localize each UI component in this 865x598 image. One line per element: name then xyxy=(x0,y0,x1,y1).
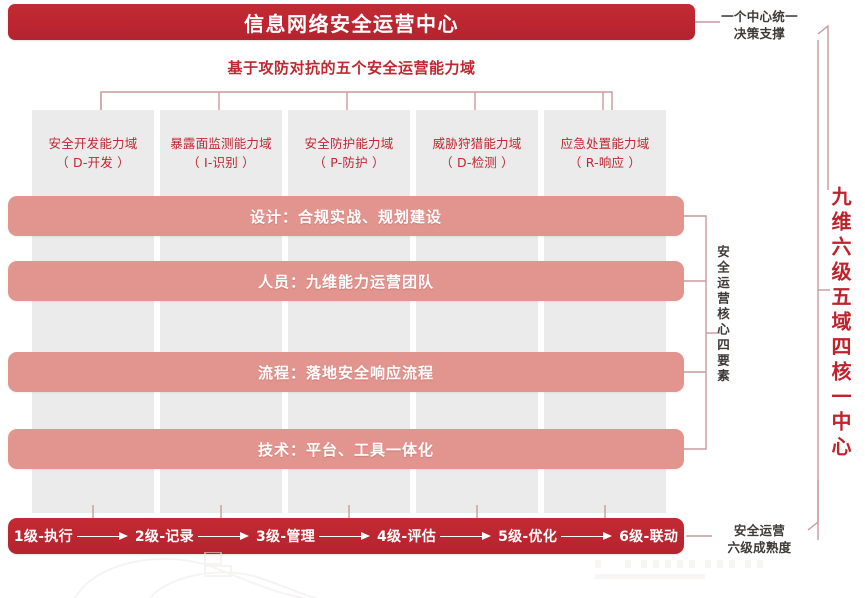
element-label-design: 设计：合规实战、规划建设 xyxy=(250,206,442,227)
domain-name-respond: 应急处置能力域 xyxy=(544,134,666,153)
maturity-level-3[interactable]: 3级-管理 xyxy=(256,526,315,546)
maturity-level-5[interactable]: 5级-优化 xyxy=(498,526,557,546)
domain-code-detect: （ D-检测 ） xyxy=(416,153,538,172)
background-watermark xyxy=(55,552,815,598)
diagram-canvas: 信息网络安全运营中心 一个中心统一 决策支撑 基于攻防对抗的五个安全运营能力域 … xyxy=(0,0,865,598)
maturity-arrow-3 xyxy=(319,530,373,542)
domain-name-identify: 暴露面监测能力域 xyxy=(160,134,282,153)
domains-bracket xyxy=(0,86,700,112)
domain-label-protect: 安全防护能力域 （ P-防护 ） xyxy=(288,134,410,172)
right-headline: 九维六级五域四核一中心 xyxy=(826,186,855,486)
maturity-arrow-1 xyxy=(77,530,131,542)
element-label-process: 流程：落地安全响应流程 xyxy=(258,362,434,383)
annotation-core-four-elements: 安全运营核心四要素 xyxy=(713,245,732,430)
annotation-maturity-line2: 六级成熟度 xyxy=(712,539,807,556)
section-caption: 基于攻防对抗的五个安全运营能力域 xyxy=(8,57,695,78)
annotation-one-center-line2: 决策支撑 xyxy=(712,25,807,42)
element-bar-people[interactable]: 人员：九维能力运营团队 xyxy=(8,261,684,301)
element-label-people: 人员：九维能力运营团队 xyxy=(258,271,434,292)
domain-name-detect: 威胁狩猎能力域 xyxy=(416,134,538,153)
domain-code-respond: （ R-响应 ） xyxy=(544,153,666,172)
domain-label-detect: 威胁狩猎能力域 （ D-检测 ） xyxy=(416,134,538,172)
maturity-arrow-4 xyxy=(440,530,494,542)
maturity-bar: 1级-执行 2级-记录 3级-管理 4级-评估 5级-优化 6级-联动 xyxy=(8,518,684,554)
element-label-technology: 技术：平台、工具一体化 xyxy=(258,439,434,460)
annotation-maturity-line1: 安全运营 xyxy=(712,522,807,539)
annotation-six-level-maturity: 安全运营 六级成熟度 xyxy=(712,522,807,556)
domain-code-development: （ D-开发 ） xyxy=(32,153,154,172)
domain-label-development: 安全开发能力域 （ D-开发 ） xyxy=(32,134,154,172)
core-elements-bracket xyxy=(682,190,742,490)
maturity-column-ticks xyxy=(0,505,700,521)
page-title: 信息网络安全运营中心 xyxy=(244,8,459,37)
maturity-arrow-5 xyxy=(561,530,615,542)
domain-code-identify: （ I-识别 ） xyxy=(160,153,282,172)
element-bar-design[interactable]: 设计：合规实战、规划建设 xyxy=(8,196,684,236)
domain-label-respond: 应急处置能力域 （ R-响应 ） xyxy=(544,134,666,172)
domain-label-identify: 暴露面监测能力域 （ I-识别 ） xyxy=(160,134,282,172)
domain-code-protect: （ P-防护 ） xyxy=(288,153,410,172)
header-bar: 信息网络安全运营中心 xyxy=(8,4,695,40)
annotation-one-center: 一个中心统一 决策支撑 xyxy=(712,8,807,42)
element-bar-technology[interactable]: 技术：平台、工具一体化 xyxy=(8,429,684,469)
element-bar-process[interactable]: 流程：落地安全响应流程 xyxy=(8,352,684,392)
domain-name-protect: 安全防护能力域 xyxy=(288,134,410,153)
maturity-level-4[interactable]: 4级-评估 xyxy=(377,526,436,546)
maturity-level-6[interactable]: 6级-联动 xyxy=(619,526,678,546)
maturity-level-1[interactable]: 1级-执行 xyxy=(14,526,73,546)
domain-name-development: 安全开发能力域 xyxy=(32,134,154,153)
maturity-level-2[interactable]: 2级-记录 xyxy=(135,526,194,546)
annotation-one-center-line1: 一个中心统一 xyxy=(712,8,807,25)
maturity-arrow-2 xyxy=(198,530,252,542)
